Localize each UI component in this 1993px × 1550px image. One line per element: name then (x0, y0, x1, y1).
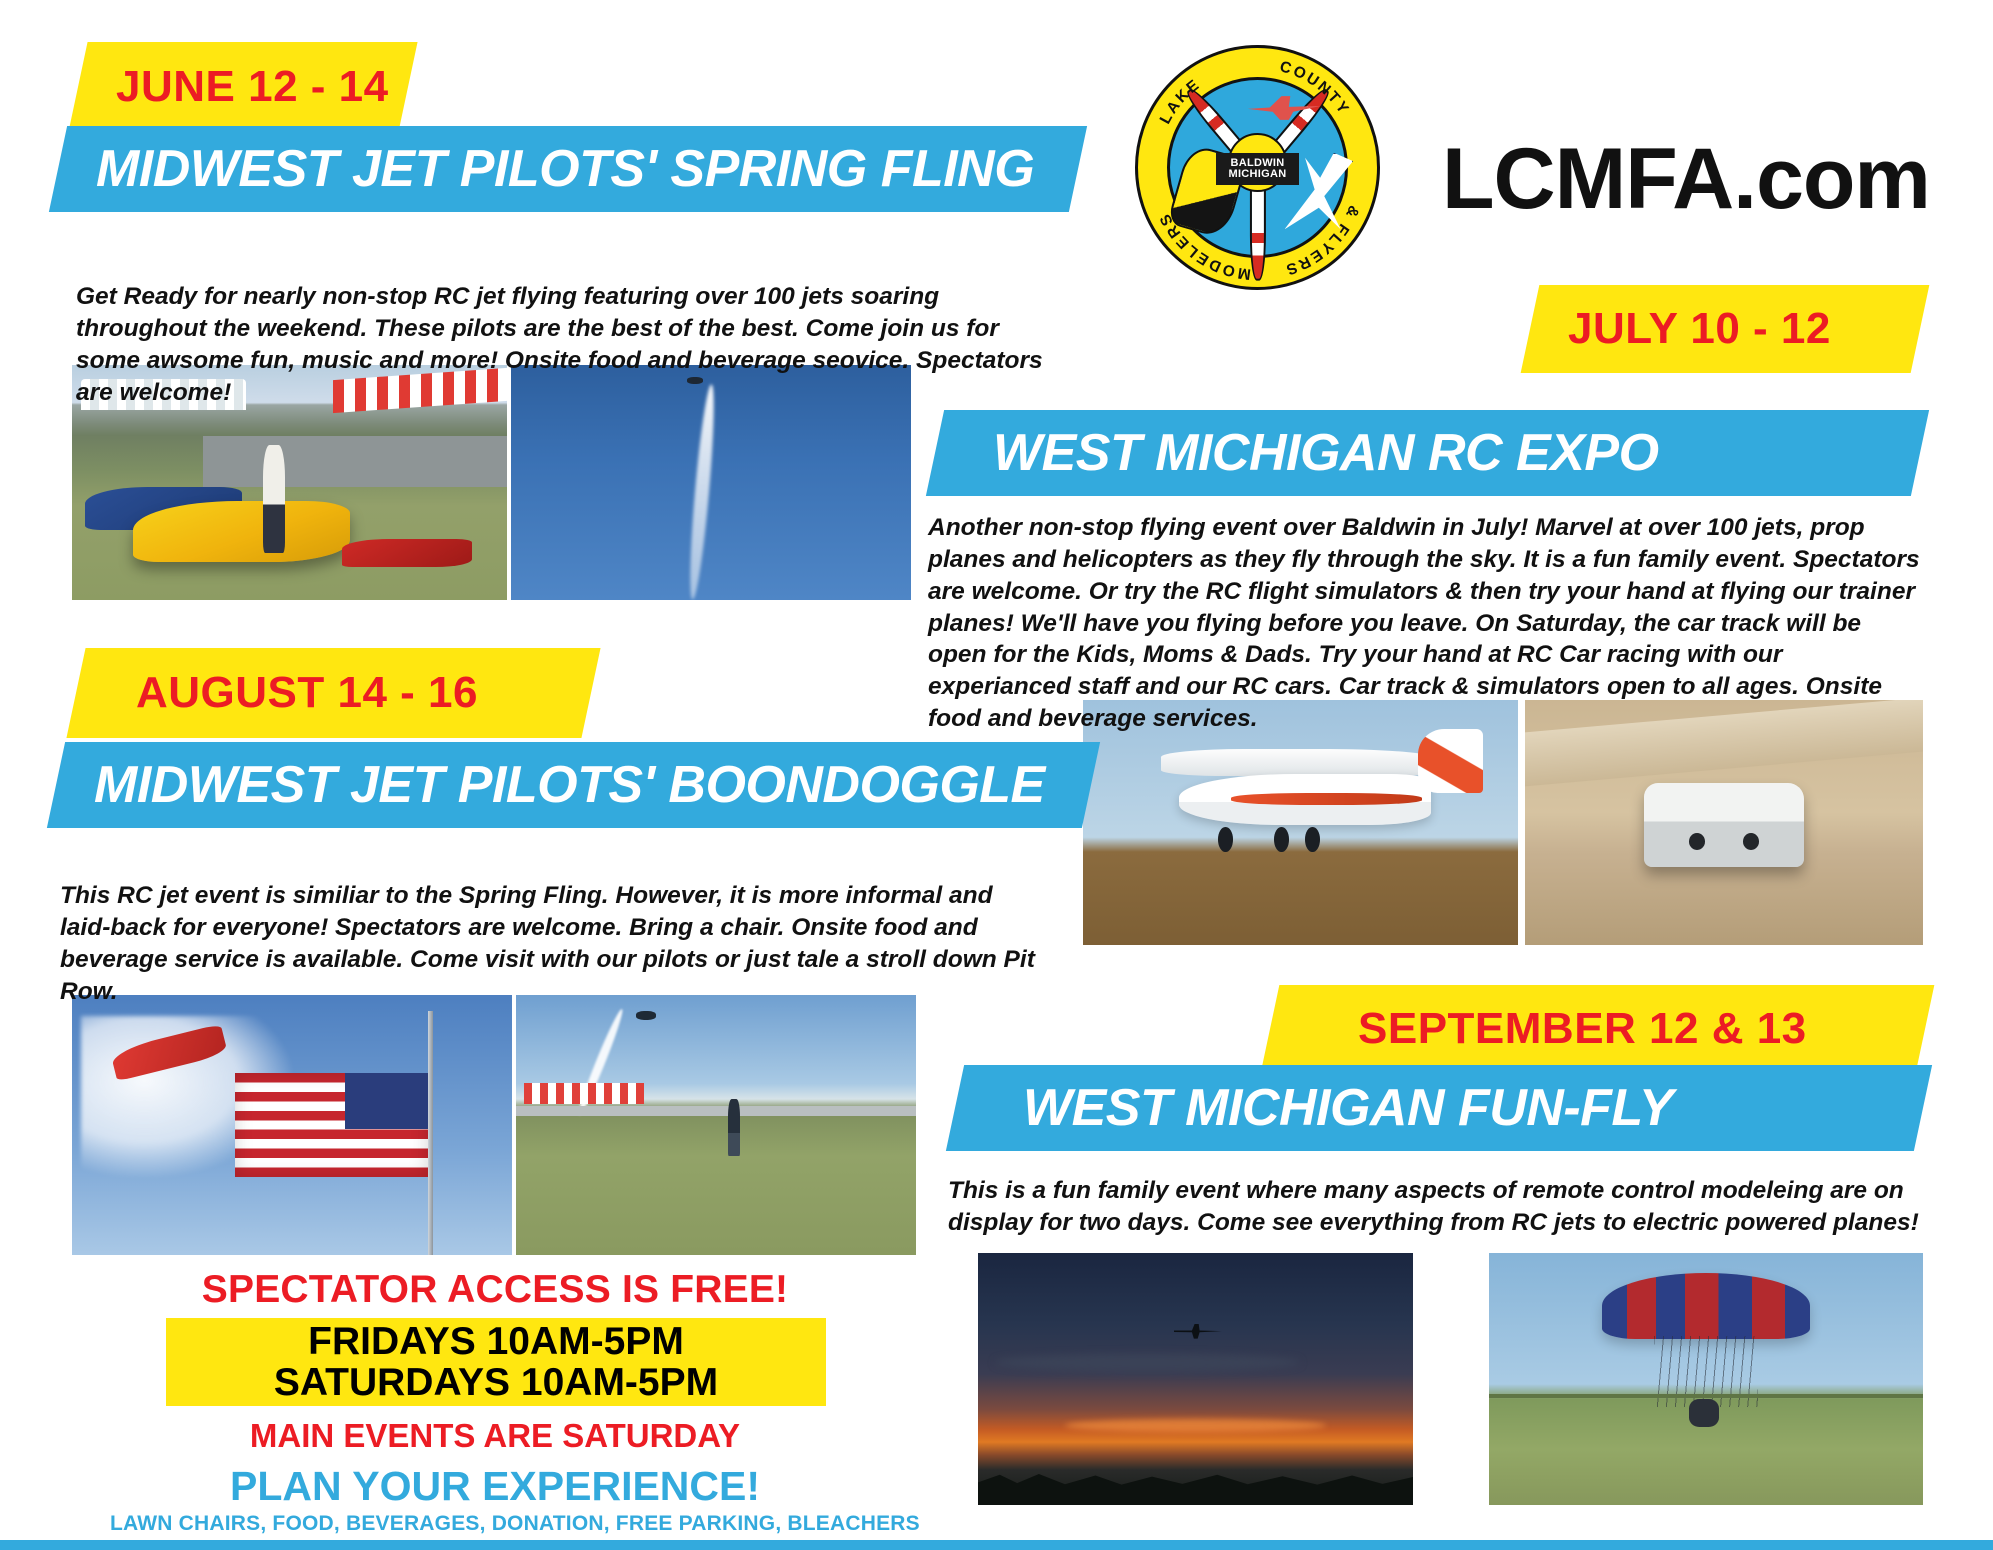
event-date-banner-boondoggle: AUGUST 14 - 16 (66, 648, 600, 738)
event-title-spring-fling: MIDWEST JET PILOTS' SPRING FLING (96, 139, 1034, 199)
club-logo: LAKE COUNTY & FLYERS MODELERS BALDWIN MI… (1135, 45, 1380, 290)
photo-jet-over-field-with-spectators (516, 995, 916, 1255)
event-body-fun-fly: This is a fun family event where many as… (948, 1175, 1933, 1239)
svg-text:& FLYERS: & FLYERS (1282, 203, 1362, 279)
event-date-banner-fun-fly: SEPTEMBER 12 & 13 (1261, 985, 1935, 1073)
spectator-access-headline: SPECTATOR ACCESS IS FREE! (150, 1268, 840, 1312)
logo-arc-county: COUNTY (1278, 58, 1353, 118)
event-title-fun-fly: WEST MICHIGAN FUN-FLY (1023, 1078, 1673, 1138)
photo-plane-silhouette-at-sunset (978, 1253, 1413, 1505)
flyer-page: LAKE COUNTY & FLYERS MODELERS BALDWIN MI… (0, 0, 1993, 1550)
event-title-banner-spring-fling: MIDWEST JET PILOTS' SPRING FLING (49, 126, 1087, 212)
event-title-rc-expo: WEST MICHIGAN RC EXPO (993, 423, 1659, 483)
event-date-spring-fling: JUNE 12 - 14 (116, 62, 389, 112)
hours-saturday: SATURDAYS 10AM-5PM (274, 1362, 718, 1403)
logo-arc-lake: LAKE (1157, 76, 1204, 127)
svg-text:LAKE: LAKE (1157, 76, 1204, 127)
photo-powered-paraglider-over-field (1489, 1253, 1923, 1505)
plan-your-experience-headline: PLAN YOUR EXPERIENCE! (150, 1463, 840, 1510)
event-body-rc-expo: Another non-stop flying event over Baldw… (928, 512, 1923, 735)
event-title-banner-rc-expo: WEST MICHIGAN RC EXPO (926, 410, 1929, 496)
event-body-boondoggle: This RC jet event is similiar to the Spr… (60, 880, 1040, 1007)
bottom-accent-rule (0, 1540, 1993, 1550)
photo-red-plane-with-smoke-and-us-flag (72, 995, 512, 1255)
amenities-list: LAWN CHAIRS, FOOD, BEVERAGES, DONATION, … (110, 1512, 880, 1536)
event-date-banner-rc-expo: JULY 10 - 12 (1521, 285, 1930, 373)
event-date-banner-spring-fling: JUNE 12 - 14 (68, 42, 417, 132)
site-url[interactable]: LCMFA.com (1442, 130, 1930, 229)
hours-friday: FRIDAYS 10AM-5PM (308, 1321, 684, 1362)
hours-box: FRIDAYS 10AM-5PM SATURDAYS 10AM-5PM (166, 1318, 826, 1406)
svg-text:MODELERS: MODELERS (1156, 209, 1252, 282)
event-title-banner-fun-fly: WEST MICHIGAN FUN-FLY (946, 1065, 1932, 1151)
event-title-banner-boondoggle: MIDWEST JET PILOTS' BOONDOGGLE (47, 742, 1100, 828)
event-body-spring-fling: Get Ready for nearly non-stop RC jet fly… (76, 281, 1066, 408)
photo-rc-truck-on-dirt-track (1525, 700, 1923, 945)
event-title-boondoggle: MIDWEST JET PILOTS' BOONDOGGLE (94, 755, 1045, 815)
main-events-note: MAIN EVENTS ARE SATURDAY (150, 1417, 840, 1455)
event-date-fun-fly: SEPTEMBER 12 & 13 (1358, 1004, 1807, 1054)
photo-rc-trainer-plane-in-flight (1083, 700, 1518, 945)
logo-arc-text: LAKE COUNTY & FLYERS MODELERS (1135, 45, 1380, 290)
svg-text:COUNTY: COUNTY (1278, 58, 1353, 118)
logo-arc-modelers: MODELERS (1156, 209, 1252, 282)
logo-arc-flyers: & FLYERS (1282, 203, 1362, 279)
event-date-boondoggle: AUGUST 14 - 16 (136, 668, 478, 718)
event-date-rc-expo: JULY 10 - 12 (1568, 304, 1831, 354)
